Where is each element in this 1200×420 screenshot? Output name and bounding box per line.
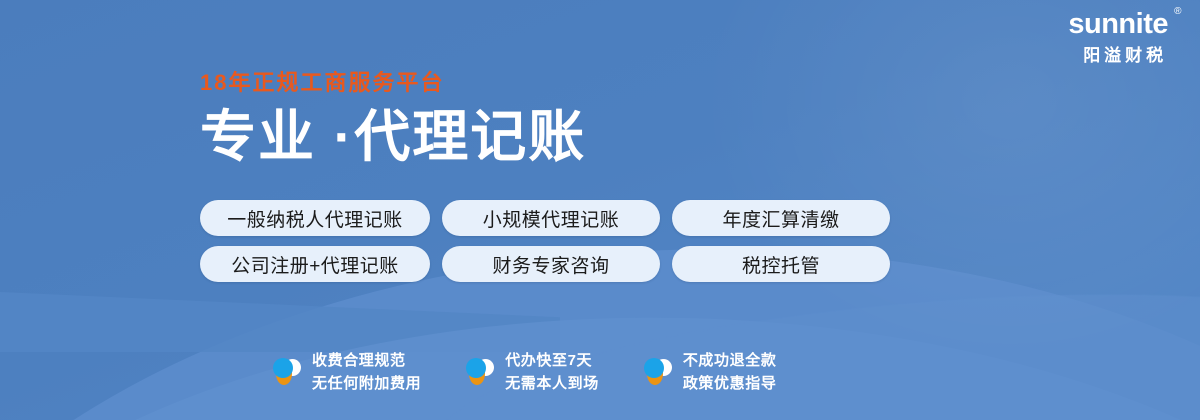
feature-strip: 收费合理规范 无任何附加费用 代办快至7天 无需本人到场 不成功退全款 <box>272 350 776 395</box>
page-title: 专业 ·代理记账 <box>200 108 586 167</box>
circle-moon-drop-icon <box>643 356 673 390</box>
feature-text-pricing: 收费合理规范 无任何附加费用 <box>312 350 421 395</box>
feature-line-1: 收费合理规范 <box>312 350 421 373</box>
service-pill-row-1: 一般纳税人代理记账 小规模代理记账 年度汇算清缴 <box>200 200 890 236</box>
service-pill-general-taxpayer[interactable]: 一般纳税人代理记账 <box>200 200 430 236</box>
feature-line-1: 代办快至7天 <box>505 350 599 373</box>
feature-text-guarantee: 不成功退全款 政策优惠指导 <box>683 350 777 395</box>
registered-trademark-icon: ® <box>1174 7 1181 17</box>
promo-banner: sunnite ® 阳溢财税 18年正规工商服务平台 专业 ·代理记账 一般纳税… <box>0 0 1200 420</box>
eyebrow-text: 18年正规工商服务平台 <box>200 72 586 94</box>
service-pill-annual-settlement[interactable]: 年度汇算清缴 <box>672 200 890 236</box>
logo-chinese-name: 阳溢财税 <box>1068 47 1178 64</box>
dot-shape <box>273 358 293 378</box>
service-pill-expert-consulting[interactable]: 财务专家咨询 <box>442 246 660 282</box>
feature-line-1: 不成功退全款 <box>683 350 777 373</box>
feature-item-guarantee: 不成功退全款 政策优惠指导 <box>643 350 777 395</box>
logo-wordmark: sunnite ® <box>1068 10 1178 39</box>
service-pill-company-registration[interactable]: 公司注册+代理记账 <box>200 246 430 282</box>
dot-shape <box>644 358 664 378</box>
feature-line-2: 政策优惠指导 <box>683 373 777 396</box>
service-pill-small-scale[interactable]: 小规模代理记账 <box>442 200 660 236</box>
dot-shape <box>466 358 486 378</box>
circle-moon-drop-icon <box>272 356 302 390</box>
logo-wordmark-text: sunnite <box>1068 8 1168 40</box>
feature-item-pricing: 收费合理规范 无任何附加费用 <box>272 350 421 395</box>
brand-logo[interactable]: sunnite ® 阳溢财税 <box>1068 10 1178 64</box>
feature-text-speed: 代办快至7天 无需本人到场 <box>505 350 599 395</box>
circle-moon-drop-icon <box>465 356 495 390</box>
feature-item-speed: 代办快至7天 无需本人到场 <box>465 350 599 395</box>
service-pill-grid: 一般纳税人代理记账 小规模代理记账 年度汇算清缴 公司注册+代理记账 财务专家咨… <box>200 200 890 292</box>
service-pill-row-2: 公司注册+代理记账 财务专家咨询 税控托管 <box>200 246 890 282</box>
feature-line-2: 无任何附加费用 <box>312 373 421 396</box>
headline-block: 18年正规工商服务平台 专业 ·代理记账 <box>200 72 586 167</box>
service-pill-tax-control-hosting[interactable]: 税控托管 <box>672 246 890 282</box>
feature-line-2: 无需本人到场 <box>505 373 599 396</box>
